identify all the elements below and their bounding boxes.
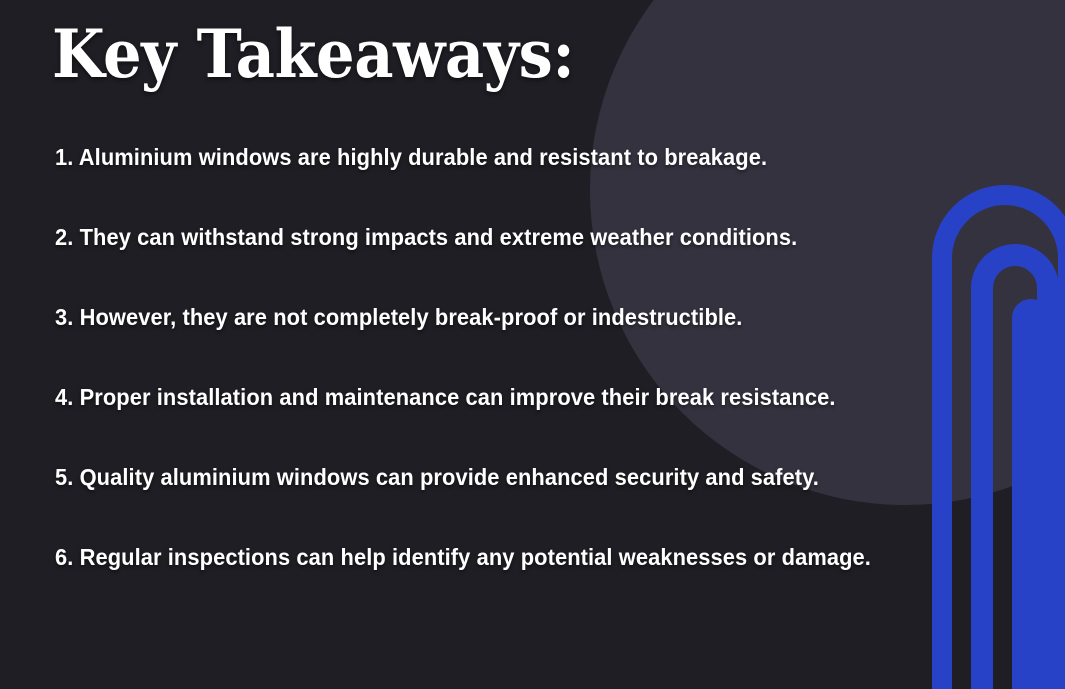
list-item: 4. Proper installation and maintenance c…: [55, 386, 948, 411]
poster-content: Key Takeaways: 1. Aluminium windows are …: [0, 0, 1065, 689]
list-item-text: Proper installation and maintenance can …: [80, 384, 836, 410]
list-item-number: 3.: [55, 304, 80, 330]
list-item-text: Regular inspections can help identify an…: [80, 544, 871, 570]
list-item: 6. Regular inspections can help identify…: [55, 546, 948, 571]
list-item: 3. However, they are not completely brea…: [55, 306, 948, 331]
list-item-number: 5.: [55, 464, 80, 490]
list-item-text: However, they are not completely break-p…: [80, 304, 743, 330]
list-item-text: They can withstand strong impacts and ex…: [80, 224, 798, 250]
list-item-number: 2.: [55, 224, 80, 250]
takeaway-list: 1. Aluminium windows are highly durable …: [55, 146, 1015, 571]
list-item-text: Aluminium windows are highly durable and…: [79, 144, 767, 170]
list-item-number: 1.: [55, 144, 79, 170]
list-item-number: 6.: [55, 544, 80, 570]
list-item: 5. Quality aluminium windows can provide…: [55, 466, 948, 491]
list-item: 1. Aluminium windows are highly durable …: [55, 146, 948, 171]
key-takeaways-poster: Key Takeaways: 1. Aluminium windows are …: [0, 0, 1065, 689]
page-title: Key Takeaways:: [52, 21, 574, 87]
list-item-text: Quality aluminium windows can provide en…: [80, 464, 819, 490]
list-item-number: 4.: [55, 384, 80, 410]
list-item: 2. They can withstand strong impacts and…: [55, 226, 948, 251]
